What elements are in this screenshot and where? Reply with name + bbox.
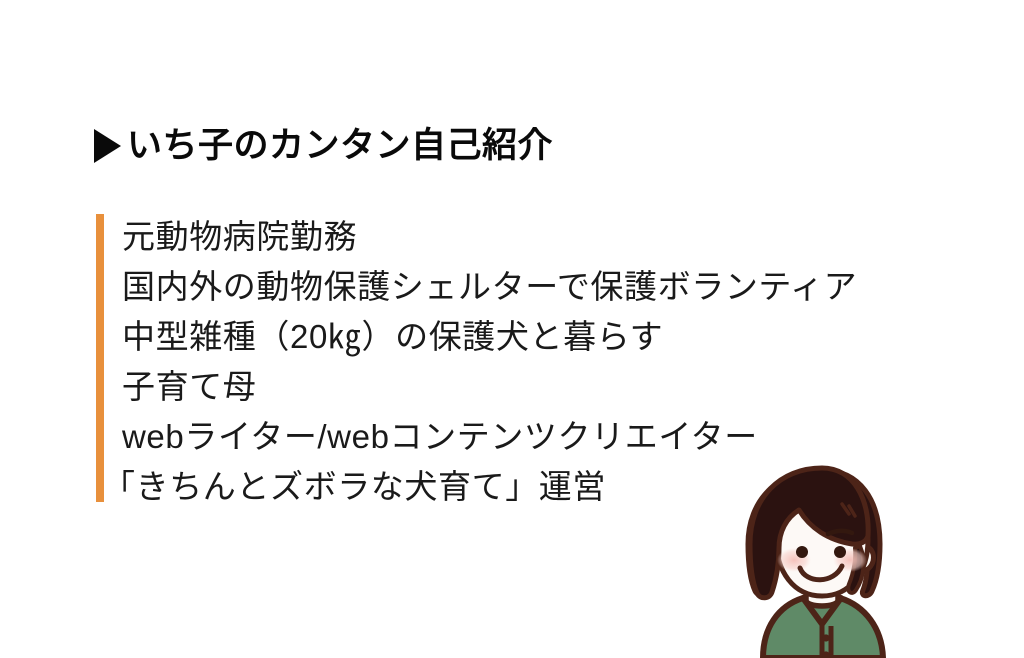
list-item: 元動物病院勤務 bbox=[122, 212, 956, 262]
page-title-text: いち子のカンタン自己紹介 bbox=[127, 128, 553, 163]
avatar-eye-right bbox=[834, 546, 846, 558]
list-item: 国内外の動物保護シェルターで保護ボランティア bbox=[122, 262, 956, 312]
slide-canvas: いち子のカンタン自己紹介 元動物病院勤務 国内外の動物保護シェルターで保護ボラン… bbox=[0, 0, 1024, 658]
page-title: いち子のカンタン自己紹介 bbox=[94, 128, 553, 163]
avatar-eye-left bbox=[796, 546, 808, 558]
list-item: 子育て母 bbox=[122, 362, 956, 412]
avatar bbox=[700, 460, 920, 658]
avatar-illustration bbox=[700, 460, 920, 658]
play-triangle-icon bbox=[94, 129, 121, 163]
list-item: webライター/webコンテンツクリエイター bbox=[122, 412, 956, 462]
list-item: 中型雑種（20㎏）の保護犬と暮らす bbox=[122, 312, 956, 362]
